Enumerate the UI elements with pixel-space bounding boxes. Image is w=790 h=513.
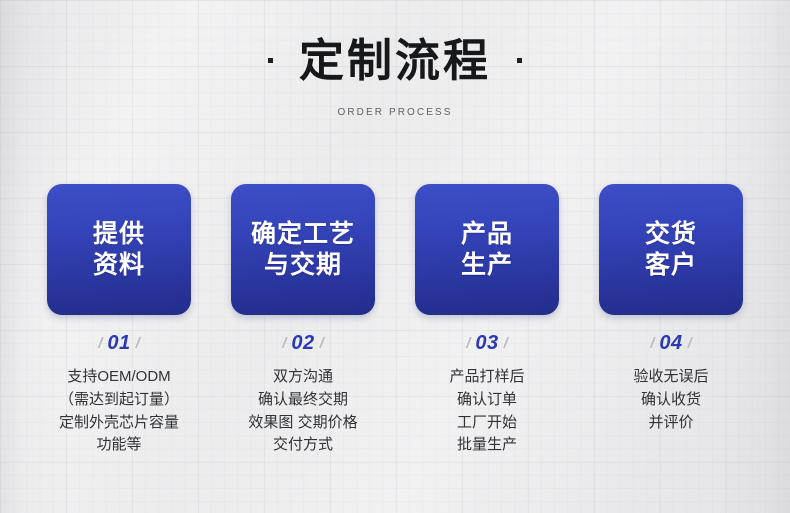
slash-right-icon: / xyxy=(688,336,692,351)
step-card-04[interactable]: 交货 客户 xyxy=(599,184,743,315)
step-number-row-03: / 03 / xyxy=(466,333,508,353)
step-number: 03 xyxy=(475,333,498,353)
slash-left-icon: / xyxy=(466,336,470,351)
step-card-line: 提供 xyxy=(93,219,145,250)
step-desc-line: 双方沟通 xyxy=(248,366,357,389)
step-desc-line: 产品打样后 xyxy=(449,366,524,389)
step-number: 04 xyxy=(659,333,682,353)
page-canvas: 定制流程 ORDER PROCESS 提供 资料 / 01 / 支持OEM/OD… xyxy=(0,0,790,513)
title-row: 定制流程 xyxy=(0,32,790,88)
process-step-01: 提供 资料 / 01 / 支持OEM/ODM （需达到起订量） 定制外壳芯片容量… xyxy=(47,184,191,457)
step-desc-line: 验收无误后 xyxy=(633,366,708,389)
step-desc-line: 交付方式 xyxy=(248,434,357,457)
step-desc-line: 工厂开始 xyxy=(449,412,524,435)
slash-right-icon: / xyxy=(504,336,508,351)
page-subtitle: ORDER PROCESS xyxy=(0,107,790,118)
step-description-03: 产品打样后 确认订单 工厂开始 批量生产 xyxy=(449,366,524,457)
step-desc-line: 确认收货 xyxy=(633,389,708,412)
step-desc-line: 效果图 交期价格 xyxy=(248,412,357,435)
step-card-line: 确定工艺 xyxy=(251,219,355,250)
slash-right-icon: / xyxy=(136,336,140,351)
step-desc-line: 批量生产 xyxy=(449,434,524,457)
slash-right-icon: / xyxy=(320,336,324,351)
step-desc-line: 功能等 xyxy=(59,434,179,457)
step-desc-line: 并评价 xyxy=(633,412,708,435)
step-card-01[interactable]: 提供 资料 xyxy=(47,184,191,315)
step-description-02: 双方沟通 确认最终交期 效果图 交期价格 交付方式 xyxy=(248,366,357,457)
process-steps: 提供 资料 / 01 / 支持OEM/ODM （需达到起订量） 定制外壳芯片容量… xyxy=(47,184,743,457)
step-card-02[interactable]: 确定工艺 与交期 xyxy=(231,184,375,315)
slash-left-icon: / xyxy=(98,336,102,351)
process-step-02: 确定工艺 与交期 / 02 / 双方沟通 确认最终交期 效果图 交期价格 交付方… xyxy=(231,184,375,457)
step-card-line: 客户 xyxy=(645,250,697,281)
step-card-03[interactable]: 产品 生产 xyxy=(415,184,559,315)
dot-left-icon xyxy=(268,58,273,63)
step-card-line: 资料 xyxy=(93,250,145,281)
step-desc-line: 定制外壳芯片容量 xyxy=(59,412,179,435)
step-desc-line: 确认最终交期 xyxy=(248,389,357,412)
process-step-03: 产品 生产 / 03 / 产品打样后 确认订单 工厂开始 批量生产 xyxy=(415,184,559,457)
step-card-line: 与交期 xyxy=(264,250,342,281)
step-description-04: 验收无误后 确认收货 并评价 xyxy=(633,366,708,434)
step-card-line: 生产 xyxy=(461,250,513,281)
step-desc-line: 支持OEM/ODM xyxy=(59,366,179,389)
page-title: 定制流程 xyxy=(299,38,491,83)
step-card-line: 交货 xyxy=(645,219,697,250)
slash-left-icon: / xyxy=(282,336,286,351)
step-card-line: 产品 xyxy=(461,219,513,250)
step-number-row-04: / 04 / xyxy=(650,333,692,353)
step-description-01: 支持OEM/ODM （需达到起订量） 定制外壳芯片容量 功能等 xyxy=(59,366,179,457)
dot-right-icon xyxy=(517,58,522,63)
step-desc-line: 确认订单 xyxy=(449,389,524,412)
step-desc-line: （需达到起订量） xyxy=(59,389,179,412)
step-number: 02 xyxy=(291,333,314,353)
process-step-04: 交货 客户 / 04 / 验收无误后 确认收货 并评价 xyxy=(599,184,743,457)
page-header: 定制流程 ORDER PROCESS xyxy=(0,32,790,118)
slash-left-icon: / xyxy=(650,336,654,351)
step-number-row-02: / 02 / xyxy=(282,333,324,353)
step-number-row-01: / 01 / xyxy=(98,333,140,353)
step-number: 01 xyxy=(107,333,130,353)
